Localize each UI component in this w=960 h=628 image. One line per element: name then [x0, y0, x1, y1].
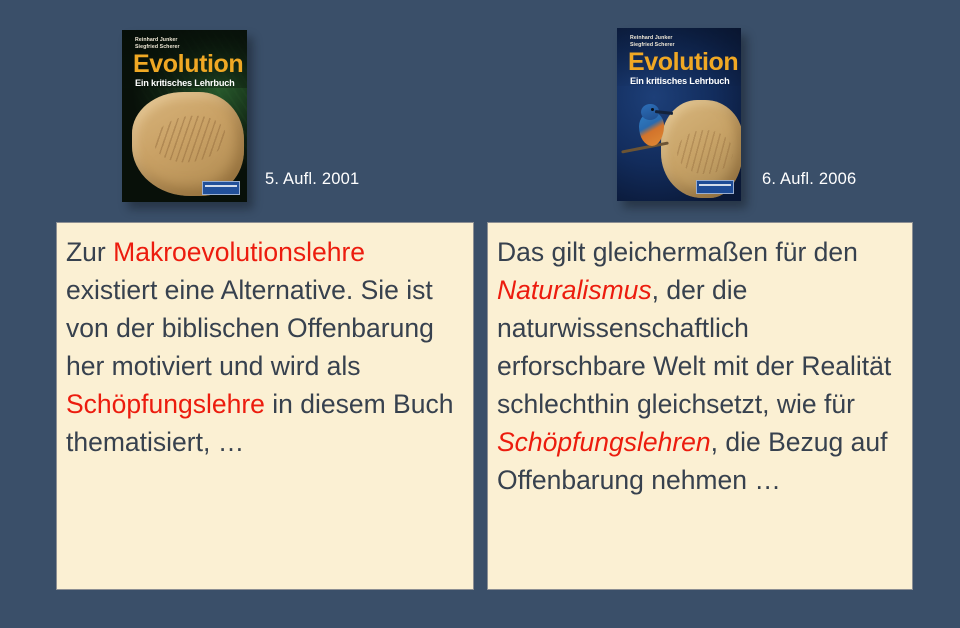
quote-segment: Schöpfungslehre	[66, 389, 265, 419]
quote-box-right: Das gilt gleichermaßen für den Naturalis…	[487, 222, 913, 590]
kingfisher-bird-illustration	[633, 102, 673, 158]
quote-segment: Zur	[66, 237, 113, 267]
quote-segment: Schöpfungslehren	[497, 427, 711, 457]
cover-title: Evolution	[133, 52, 243, 77]
cover-authors: Reinhard Junker Siegfried Scherer	[135, 37, 180, 51]
quote-segment: Naturalismus	[497, 275, 652, 305]
publisher-logo-icon	[696, 180, 734, 194]
caption-5th-edition: 5. Aufl. 2001	[265, 170, 359, 189]
bird-eye-shape	[651, 108, 654, 111]
cover-authors: Reinhard Junker Siegfried Scherer	[630, 35, 675, 49]
book-cover-6th-edition: Reinhard Junker Siegfried Scherer Evolut…	[617, 28, 741, 201]
quote-box-left: Zur Makroevolutionslehre existiert eine …	[56, 222, 474, 590]
cover-title: Evolution	[628, 50, 738, 75]
quote-right-text: Das gilt gleichermaßen für den Naturalis…	[497, 237, 891, 495]
cover-subtitle: Ein kritisches Lehrbuch	[630, 76, 730, 87]
book-cover-5th-edition: Reinhard Junker Siegfried Scherer Evolut…	[122, 30, 247, 202]
slide-canvas: Reinhard Junker Siegfried Scherer Evolut…	[0, 0, 960, 628]
quote-segment: Makroevolutionslehre	[113, 237, 365, 267]
quote-segment: Das gilt gleichermaßen für den	[497, 237, 858, 267]
caption-6th-edition: 6. Aufl. 2006	[762, 170, 856, 189]
publisher-logo-icon	[202, 181, 240, 195]
quote-left-text: Zur Makroevolutionslehre existiert eine …	[66, 237, 453, 457]
cover-subtitle: Ein kritisches Lehrbuch	[135, 78, 235, 89]
quote-segment: existiert eine Alternative. Sie ist von …	[66, 275, 434, 381]
